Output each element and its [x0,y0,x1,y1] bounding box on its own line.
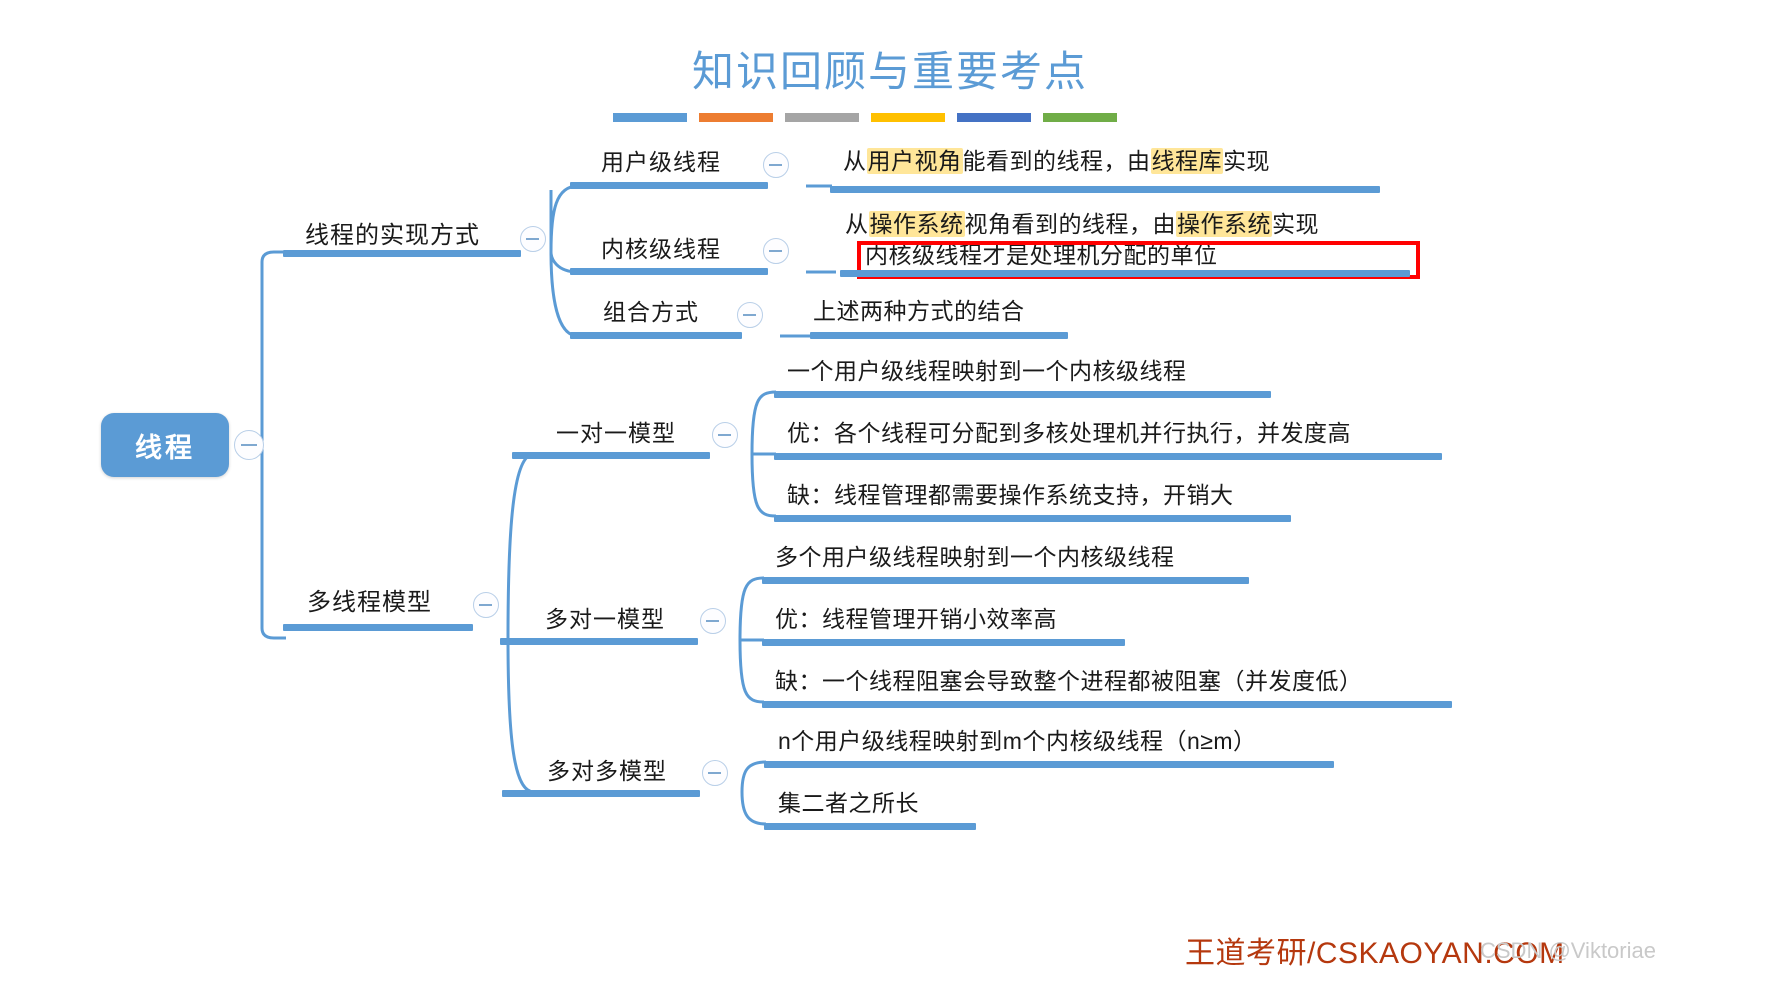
title-bar-3 [785,113,859,122]
mindmap-canvas: 知识回顾与重要考点 线程 线程的实现方式 用户级线程 从用户视角能看到的线程，由… [0,0,1780,992]
title-bar-6 [1043,113,1117,122]
toggle-thread-implementation[interactable] [520,226,546,252]
toggle-many-to-one-model[interactable] [700,608,726,634]
root-node-label: 线程 [135,426,195,465]
title-bar-4 [871,113,945,122]
node-thread-implementation-label: 线程的实现方式 [305,222,480,250]
title-color-bars [613,113,1117,122]
node-many-to-one-item-1[interactable]: 多个用户级线程映射到一个内核级线程 [775,544,1175,570]
node-many-to-many-model-label: 多对多模型 [547,758,667,784]
detail-text-plain-1: 从 [843,148,867,174]
node-combined-approach-label: 组合方式 [603,299,699,325]
kernel-detail-plain-1: 从 [845,211,869,237]
node-user-level-thread[interactable]: 用户级线程 [601,149,721,175]
underline-multithread-model [283,624,473,631]
toggle-user-level-thread[interactable] [763,152,789,178]
node-many-to-many-item-1[interactable]: n个用户级线程映射到m个内核级线程（n≥m） [778,728,1257,754]
node-many-to-one-item-2-label: 优：线程管理开销小效率高 [775,606,1057,632]
underline-many-to-many-model [502,790,700,797]
node-combined-approach-detail-label: 上述两种方式的结合 [813,298,1025,324]
underline-one-to-one-item-3 [774,515,1291,522]
node-kernel-level-thread[interactable]: 内核级线程 [601,236,721,262]
node-many-to-many-item-2-label: 集二者之所长 [778,790,919,816]
node-many-to-many-item-2[interactable]: 集二者之所长 [778,790,919,816]
node-thread-implementation[interactable]: 线程的实现方式 [305,222,480,250]
node-user-level-thread-label: 用户级线程 [601,149,721,175]
node-user-level-thread-detail-label: 从用户视角能看到的线程，由线程库实现 [843,148,1270,174]
node-user-level-thread-detail[interactable]: 从用户视角能看到的线程，由线程库实现 [843,148,1270,174]
underline-user-level-thread [570,182,768,189]
toggle-combined-approach[interactable] [737,302,763,328]
node-many-to-one-model[interactable]: 多对一模型 [545,606,665,632]
page-title: 知识回顾与重要考点 [0,38,1780,99]
underline-one-to-one-model [512,452,710,459]
kernel-detail-plain-2: 视角看到的线程，由 [965,211,1177,237]
node-many-to-one-model-label: 多对一模型 [545,606,665,632]
detail-text-highlight-1: 用户视角 [867,148,963,174]
underline-combined-approach-detail [810,332,1068,339]
toggle-one-to-one-model[interactable] [712,422,738,448]
toggle-many-to-many-model[interactable] [702,760,728,786]
node-one-to-one-item-3-label: 缺：线程管理都需要操作系统支持，开销大 [787,482,1234,508]
underline-one-to-one-item-1 [774,391,1271,398]
detail-text-plain-2: 能看到的线程，由 [963,148,1151,174]
underline-many-to-one-model [500,638,698,645]
node-many-to-many-model[interactable]: 多对多模型 [547,758,667,784]
node-multithread-model[interactable]: 多线程模型 [307,589,432,617]
underline-thread-implementation [283,250,521,257]
node-multithread-model-label: 多线程模型 [307,589,432,617]
underline-kernel-level-thread [570,268,768,275]
underline-one-to-one-item-2 [774,453,1442,460]
node-kernel-level-thread-label: 内核级线程 [601,236,721,262]
kernel-detail-plain-3: 实现 [1272,211,1319,237]
underline-many-to-one-item-2 [762,639,1125,646]
node-one-to-one-item-3[interactable]: 缺：线程管理都需要操作系统支持，开销大 [787,482,1234,508]
node-many-to-one-item-2[interactable]: 优：线程管理开销小效率高 [775,606,1057,632]
node-one-to-one-model[interactable]: 一对一模型 [556,420,676,446]
node-one-to-one-model-label: 一对一模型 [556,420,676,446]
title-bar-5 [957,113,1031,122]
title-bar-1 [613,113,687,122]
watermark-author: CSDN @Viktoriae [1480,938,1656,964]
detail-text-plain-3: 实现 [1223,148,1270,174]
underline-many-to-many-item-1 [764,761,1334,768]
detail-text-highlight-2: 线程库 [1151,148,1224,174]
toggle-multithread-model[interactable] [473,592,499,618]
node-many-to-one-item-1-label: 多个用户级线程映射到一个内核级线程 [775,544,1175,570]
underline-many-to-one-item-1 [762,577,1249,584]
underline-many-to-many-item-2 [764,823,976,830]
node-kernel-level-thread-detail-line1: 从操作系统视角看到的线程，由操作系统实现 [845,209,1319,240]
title-bar-2 [699,113,773,122]
underline-user-level-thread-detail [830,186,1380,193]
node-one-to-one-item-1[interactable]: 一个用户级线程映射到一个内核级线程 [787,358,1187,384]
underline-many-to-one-item-3 [762,701,1452,708]
node-one-to-one-item-2[interactable]: 优：各个线程可分配到多核处理机并行执行，并发度高 [787,420,1351,446]
underline-kernel-level-thread-detail [840,270,1410,277]
node-many-to-one-item-3[interactable]: 缺：一个线程阻塞会导致整个进程都被阻塞（并发度低） [775,668,1363,694]
kernel-detail-highlight-1: 操作系统 [869,211,965,237]
node-combined-approach-detail[interactable]: 上述两种方式的结合 [813,298,1025,324]
node-one-to-one-item-1-label: 一个用户级线程映射到一个内核级线程 [787,358,1187,384]
toggle-kernel-level-thread[interactable] [763,238,789,264]
root-node[interactable]: 线程 [101,413,229,477]
underline-combined-approach [570,332,742,339]
kernel-detail-highlight-2: 操作系统 [1176,211,1272,237]
root-collapse-toggle[interactable] [234,430,264,460]
node-many-to-one-item-3-label: 缺：一个线程阻塞会导致整个进程都被阻塞（并发度低） [775,668,1363,694]
node-one-to-one-item-2-label: 优：各个线程可分配到多核处理机并行执行，并发度高 [787,420,1351,446]
node-many-to-many-item-1-label: n个用户级线程映射到m个内核级线程（n≥m） [778,728,1257,754]
node-combined-approach[interactable]: 组合方式 [603,299,699,325]
